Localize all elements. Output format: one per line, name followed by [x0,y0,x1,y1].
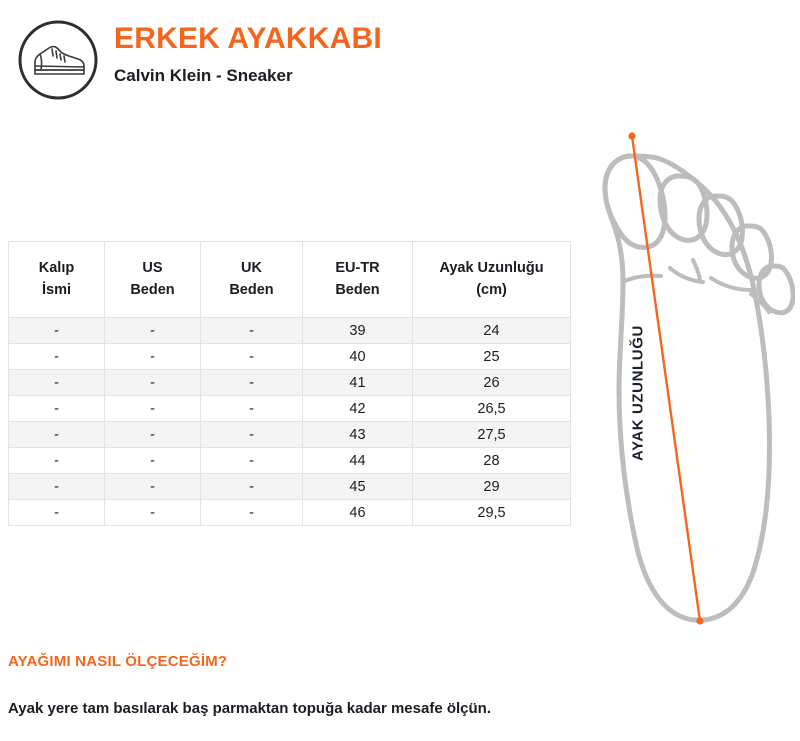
cell-kalip: - [9,370,105,396]
table-row: - - - 44 28 [9,448,571,474]
cell-us: - [105,474,201,500]
table-row: - - - 45 29 [9,474,571,500]
cell-kalip: - [9,344,105,370]
foot-length-label: AYAK UZUNLUĞU [630,318,647,468]
measure-heading: AYAĞIMI NASIL ÖLÇECEĞİM? [8,653,227,670]
cell-uzunluk: 25 [413,344,571,370]
size-chart-table: Kalıp İsmi US Beden UK Beden EU-TR Beden… [8,241,571,526]
cell-eu-tr: 40 [303,344,413,370]
table-row: - - - 43 27,5 [9,422,571,448]
table-header-row: Kalıp İsmi US Beden UK Beden EU-TR Beden… [9,242,571,318]
header-line-1: Kalıp [39,260,74,276]
measure-endpoint-heel [696,617,703,624]
header-line-1: UK [241,260,262,276]
cell-eu-tr: 42 [303,396,413,422]
cell-us: - [105,318,201,344]
cell-uzunluk: 26,5 [413,396,571,422]
column-header-kalip-ismi: Kalıp İsmi [9,242,105,318]
header-line-1: EU-TR [335,260,379,276]
cell-us: - [105,448,201,474]
cell-uzunluk: 29,5 [413,500,571,526]
cell-uk: - [201,500,303,526]
cell-uk: - [201,396,303,422]
header-line-1: Ayak Uzunluğu [439,260,543,276]
cell-uzunluk: 27,5 [413,422,571,448]
cell-eu-tr: 41 [303,370,413,396]
cell-us: - [105,370,201,396]
page-title: ERKEK AYAKKABI [114,22,554,55]
measure-instruction: Ayak yere tam basılarak baş parmaktan to… [8,700,491,717]
cell-kalip: - [9,318,105,344]
header-line-2: Beden [335,282,379,298]
cell-uzunluk: 26 [413,370,571,396]
table-body: - - - 39 24 - - - 40 25 - - - 41 26 - - … [9,318,571,526]
cell-eu-tr: 43 [303,422,413,448]
header: ERKEK AYAKKABI Calvin Klein - Sneaker [8,10,568,110]
table-row: - - - 41 26 [9,370,571,396]
header-line-2: İsmi [42,282,71,298]
column-header-us-beden: US Beden [105,242,201,318]
cell-kalip: - [9,500,105,526]
table-row: - - - 46 29,5 [9,500,571,526]
cell-uzunluk: 28 [413,448,571,474]
cell-us: - [105,422,201,448]
cell-uzunluk: 24 [413,318,571,344]
cell-uk: - [201,448,303,474]
header-line-2: (cm) [476,282,507,298]
column-header-ayak-uzunlugu: Ayak Uzunluğu (cm) [413,242,571,318]
cell-uk: - [201,370,303,396]
cell-us: - [105,396,201,422]
cell-uzunluk: 29 [413,474,571,500]
cell-kalip: - [9,474,105,500]
cell-eu-tr: 46 [303,500,413,526]
cell-us: - [105,344,201,370]
column-header-eu-tr-beden: EU-TR Beden [303,242,413,318]
cell-uk: - [201,344,303,370]
cell-kalip: - [9,396,105,422]
foot-sole-diagram [575,118,795,638]
table-row: - - - 42 26,5 [9,396,571,422]
measure-endpoint-toe [628,132,635,139]
page-subtitle: Calvin Klein - Sneaker [114,66,554,86]
header-line-1: US [142,260,162,276]
cell-uk: - [201,474,303,500]
cell-eu-tr: 39 [303,318,413,344]
cell-uk: - [201,422,303,448]
cell-uk: - [201,318,303,344]
cell-kalip: - [9,448,105,474]
header-line-2: Beden [130,282,174,298]
table-row: - - - 39 24 [9,318,571,344]
cell-kalip: - [9,422,105,448]
table-row: - - - 40 25 [9,344,571,370]
header-line-2: Beden [229,282,273,298]
cell-eu-tr: 44 [303,448,413,474]
cell-us: - [105,500,201,526]
column-header-uk-beden: UK Beden [201,242,303,318]
sneaker-icon [16,18,100,102]
title-block: ERKEK AYAKKABI Calvin Klein - Sneaker [114,22,554,86]
cell-eu-tr: 45 [303,474,413,500]
